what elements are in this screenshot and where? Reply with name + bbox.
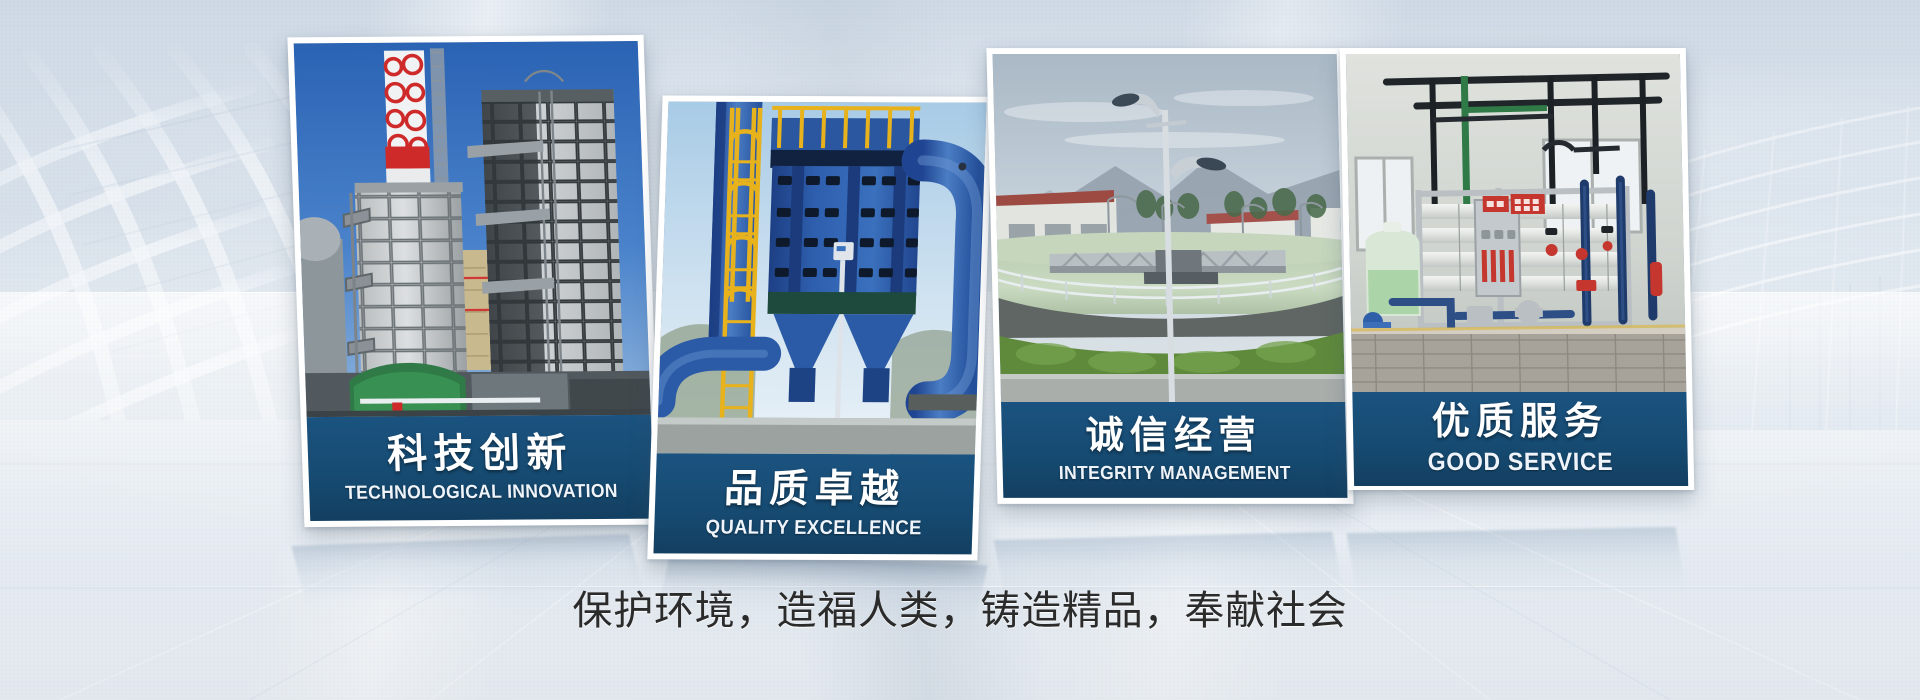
card-title-cn-3: 诚信经营: [1085, 417, 1262, 455]
card-title-en-1: TECHNOLOGICAL INNOVATION: [345, 482, 618, 503]
feature-card-technological-innovation[interactable]: 科技创新 TECHNOLOGICAL INNOVATION: [287, 35, 660, 527]
card-band-good-service: 优质服务 GOOD SERVICE: [1352, 392, 1688, 486]
card-title-cn-2: 品质卓越: [723, 470, 905, 510]
card-title-cn-4: 优质服务: [1431, 403, 1608, 441]
banner-stage: 科技创新 TECHNOLOGICAL INNOVATION: [0, 0, 1920, 700]
banner-tagline: 保护环境，造福人类，铸造精品，奉献社会: [0, 578, 1920, 636]
feature-card-integrity-management[interactable]: 诚信经营 INTEGRITY MANAGEMENT: [986, 48, 1353, 504]
card-band-integrity-management: 诚信经营 INTEGRITY MANAGEMENT: [1001, 402, 1347, 498]
card-photo-integrity-management: [993, 54, 1346, 402]
card-title-en-2: QUALITY EXCELLENCE: [705, 518, 922, 539]
card-band-technological-innovation: 科技创新 TECHNOLOGICAL INNOVATION: [307, 415, 655, 521]
card-band-quality-excellence: 品质卓越 QUALITY EXCELLENCE: [653, 453, 974, 554]
card-title-en-3: INTEGRITY MANAGEMENT: [1059, 464, 1292, 483]
card-title-cn-1: 科技创新: [386, 433, 573, 474]
feature-card-good-service[interactable]: 优质服务 GOOD SERVICE: [1340, 48, 1695, 490]
card-photo-quality-excellence: [657, 102, 987, 455]
card-title-en-4: GOOD SERVICE: [1428, 450, 1614, 475]
feature-card-quality-excellence[interactable]: 品质卓越 QUALITY EXCELLENCE: [647, 96, 993, 561]
card-photo-technological-innovation: [294, 41, 651, 417]
card-photo-good-service: [1346, 54, 1687, 392]
